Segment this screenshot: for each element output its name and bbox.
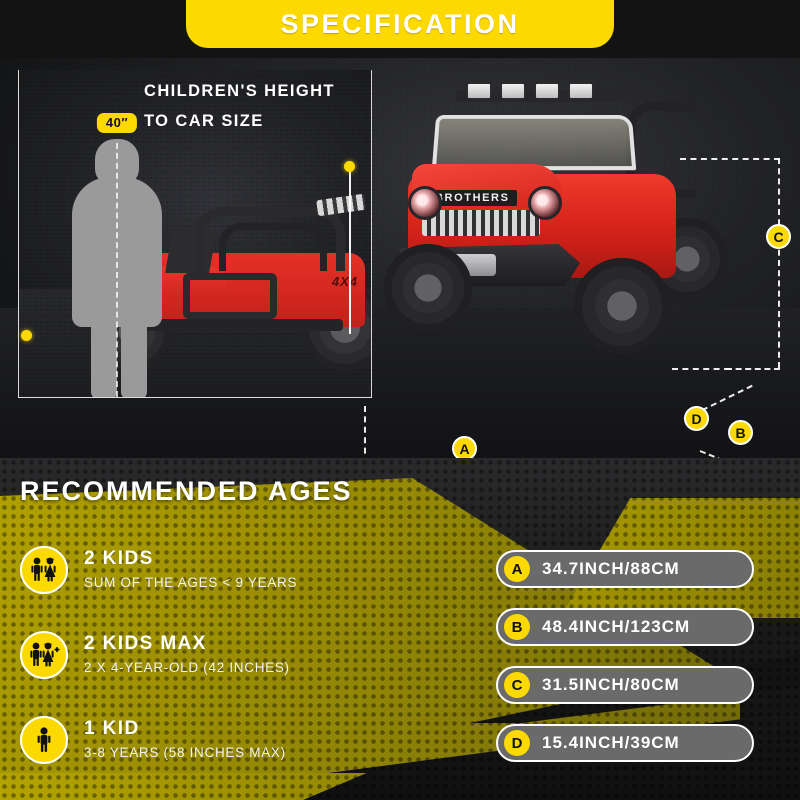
age-title: 2 KIDS MAX: [84, 633, 290, 655]
age-title: 2 KIDS: [84, 548, 297, 570]
age-text: 1 KID 3-8 YEARS (58 INCHES MAX): [84, 718, 286, 763]
callout-badge-b: B: [728, 420, 753, 445]
roof-light-4: [568, 82, 594, 100]
ride-on-car-front-view: BROTHERS: [378, 78, 718, 378]
age-row: 2 KIDS SUM OF THE AGES < 9 YEARS: [20, 546, 440, 594]
callout-badge-a: A: [452, 436, 477, 458]
silhouette-leg-left: [91, 315, 117, 398]
dimension-line-c: [778, 158, 780, 368]
age-row: 2 KIDS MAX 2 X 4-YEAR-OLD (42 INCHES): [20, 631, 440, 679]
side-height-line: [349, 166, 351, 334]
age-recommendation-list: 2 KIDS SUM OF THE AGES < 9 YEARS: [20, 546, 440, 800]
age-subtitle: SUM OF THE AGES < 9 YEARS: [84, 573, 297, 593]
side-4x4-decal: 4X4: [332, 274, 358, 289]
side-light-bar: [316, 194, 366, 217]
main-headlight-left: [408, 186, 442, 220]
dimension-pill-d: D 15.4INCH/39CM: [496, 724, 754, 762]
callout-badge-c: C: [766, 224, 791, 249]
side-roll-cage-inner: [219, 223, 327, 271]
silhouette-leg-right: [121, 315, 147, 398]
main-windshield: [432, 115, 637, 170]
dimension-pill-b: B 48.4INCH/123CM: [496, 608, 754, 646]
main-front-right-wheel: [574, 258, 670, 354]
main-headlight-right: [528, 186, 562, 220]
side-door-frame: [183, 273, 277, 319]
caption-line-1: CHILDREN'S HEIGHT: [144, 76, 335, 106]
age-subtitle: 2 X 4-YEAR-OLD (42 INCHES): [84, 658, 290, 678]
specification-infographic: SPECIFICATION 4X4 4: [0, 0, 800, 800]
height-badge: 40″: [97, 113, 137, 133]
main-grille: [422, 210, 540, 236]
header-banner: SPECIFICATION: [186, 0, 614, 48]
photo-caption: CHILDREN'S HEIGHT TO CAR SIZE: [144, 76, 335, 136]
main-front-left-wheel: [384, 244, 472, 332]
two-kids-icon: [20, 546, 68, 594]
side-height-top-dot: [344, 161, 355, 172]
dimension-letter-b: B: [504, 614, 530, 640]
child-silhouette: 40″: [71, 139, 163, 397]
callout-badge-d: D: [684, 406, 709, 431]
dimension-value-b: 48.4INCH/123CM: [542, 617, 690, 637]
dimension-letter-a: A: [504, 556, 530, 582]
age-subtitle: 3-8 YEARS (58 INCHES MAX): [84, 743, 286, 763]
header-bar: SPECIFICATION: [0, 0, 800, 58]
dimension-line-d: [672, 368, 730, 370]
dimension-letter-c: C: [504, 672, 530, 698]
dimension-letter-d: D: [504, 730, 530, 756]
page-title: SPECIFICATION: [280, 9, 519, 40]
two-kids-max-icon: [20, 631, 68, 679]
caption-line-2: TO CAR SIZE: [144, 106, 335, 136]
age-title: 1 KID: [84, 718, 286, 740]
product-photo-stage: 4X4 40″ CHILDREN'S HEIGHT TO CAR SIZE: [0, 58, 800, 458]
dimension-line-a-riser: [364, 406, 366, 458]
dimension-list: A 34.7INCH/88CM B 48.4INCH/123CM C 31.5I…: [496, 550, 754, 782]
age-text: 2 KIDS MAX 2 X 4-YEAR-OLD (42 INCHES): [84, 633, 290, 678]
dimension-line-c-top: [680, 158, 780, 160]
height-dashed-line: [116, 143, 118, 397]
roof-light-3: [534, 82, 560, 100]
dimension-value-d: 15.4INCH/39CM: [542, 733, 680, 753]
dimension-pill-a: A 34.7INCH/88CM: [496, 550, 754, 588]
dimension-pill-c: C 31.5INCH/80CM: [496, 666, 754, 704]
section-title: RECOMMENDED AGES: [20, 476, 353, 507]
age-text: 2 KIDS SUM OF THE AGES < 9 YEARS: [84, 548, 297, 593]
dimension-line-c-bottom: [726, 368, 780, 370]
roof-light-1: [466, 82, 492, 100]
dimension-value-a: 34.7INCH/88CM: [542, 559, 680, 579]
roof-light-2: [500, 82, 526, 100]
one-kid-icon: [20, 716, 68, 764]
height-baseline-dot: [21, 330, 32, 341]
age-row: 1 KID 3-8 YEARS (58 INCHES MAX): [20, 716, 440, 764]
dimension-value-c: 31.5INCH/80CM: [542, 675, 680, 695]
recommended-ages-section: RECOMMENDED AGES: [0, 458, 800, 800]
